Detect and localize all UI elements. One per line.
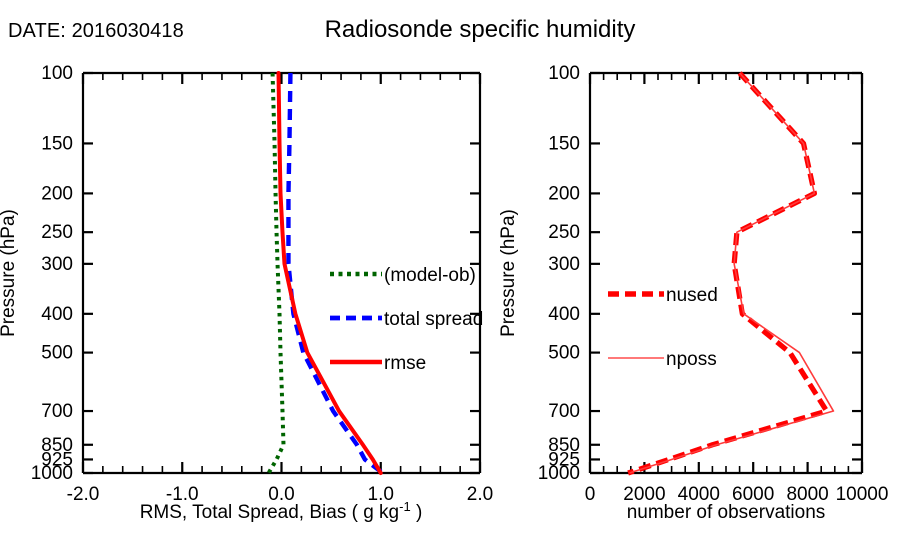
y-tick-label: 100 <box>548 63 580 84</box>
y-axis-ticks: 1001502002503004005007008509251000 <box>538 63 862 484</box>
legend: (model-ob)total spreadrmse <box>330 265 483 374</box>
legend-label-total-spread: total spread <box>384 309 483 330</box>
x-tick-label: 0 <box>585 484 596 505</box>
y-tick-label: 300 <box>41 254 73 275</box>
y-tick-label: 200 <box>41 183 73 204</box>
x-axis-title: number of observations <box>627 502 826 523</box>
legend-label-nused: nused <box>666 285 718 306</box>
y-tick-label: 400 <box>41 304 73 325</box>
x-tick-label: -2.0 <box>67 484 100 505</box>
y-tick-label: 700 <box>548 401 580 422</box>
y-tick-label: 250 <box>548 222 580 243</box>
x-tick-label: 2.0 <box>467 484 493 505</box>
y-axis-title: Pressure (hPa) <box>0 209 19 337</box>
y-axis-title: Pressure (hPa) <box>498 209 519 337</box>
right-panel-svg: 1001502002503004005007008509251000020004… <box>500 0 900 560</box>
legend: nusednposs <box>608 285 718 370</box>
y-tick-label: 1000 <box>538 463 580 484</box>
x-tick-label: 10000 <box>836 484 889 505</box>
y-tick-label: 250 <box>41 222 73 243</box>
y-tick-label: 1000 <box>31 463 73 484</box>
figure-root: DATE: 2016030418 Radiosonde specific hum… <box>0 0 900 560</box>
y-tick-label: 400 <box>548 304 580 325</box>
y-tick-label: 500 <box>41 343 73 364</box>
y-tick-label: 100 <box>41 63 73 84</box>
legend-label--model-ob-: (model-ob) <box>384 265 476 286</box>
left-panel: 1001502002503004005007008509251000-2.0-1… <box>0 0 500 560</box>
y-tick-label: 150 <box>548 133 580 154</box>
series-total-spread <box>288 73 382 473</box>
series-nposs <box>629 73 833 473</box>
x-axis-title: RMS, Total Spread, Bias ( g kg-1 ) <box>140 499 423 524</box>
legend-label-nposs: nposs <box>666 349 717 370</box>
y-tick-label: 500 <box>548 343 580 364</box>
left-panel-svg: 1001502002503004005007008509251000-2.0-1… <box>0 0 500 560</box>
y-tick-label: 150 <box>41 133 73 154</box>
y-tick-label: 700 <box>41 401 73 422</box>
right-panel: 1001502002503004005007008509251000020004… <box>500 0 900 560</box>
y-tick-label: 300 <box>548 254 580 275</box>
y-tick-label: 200 <box>548 183 580 204</box>
series-nused <box>628 73 827 473</box>
legend-label-rmse: rmse <box>384 353 426 374</box>
